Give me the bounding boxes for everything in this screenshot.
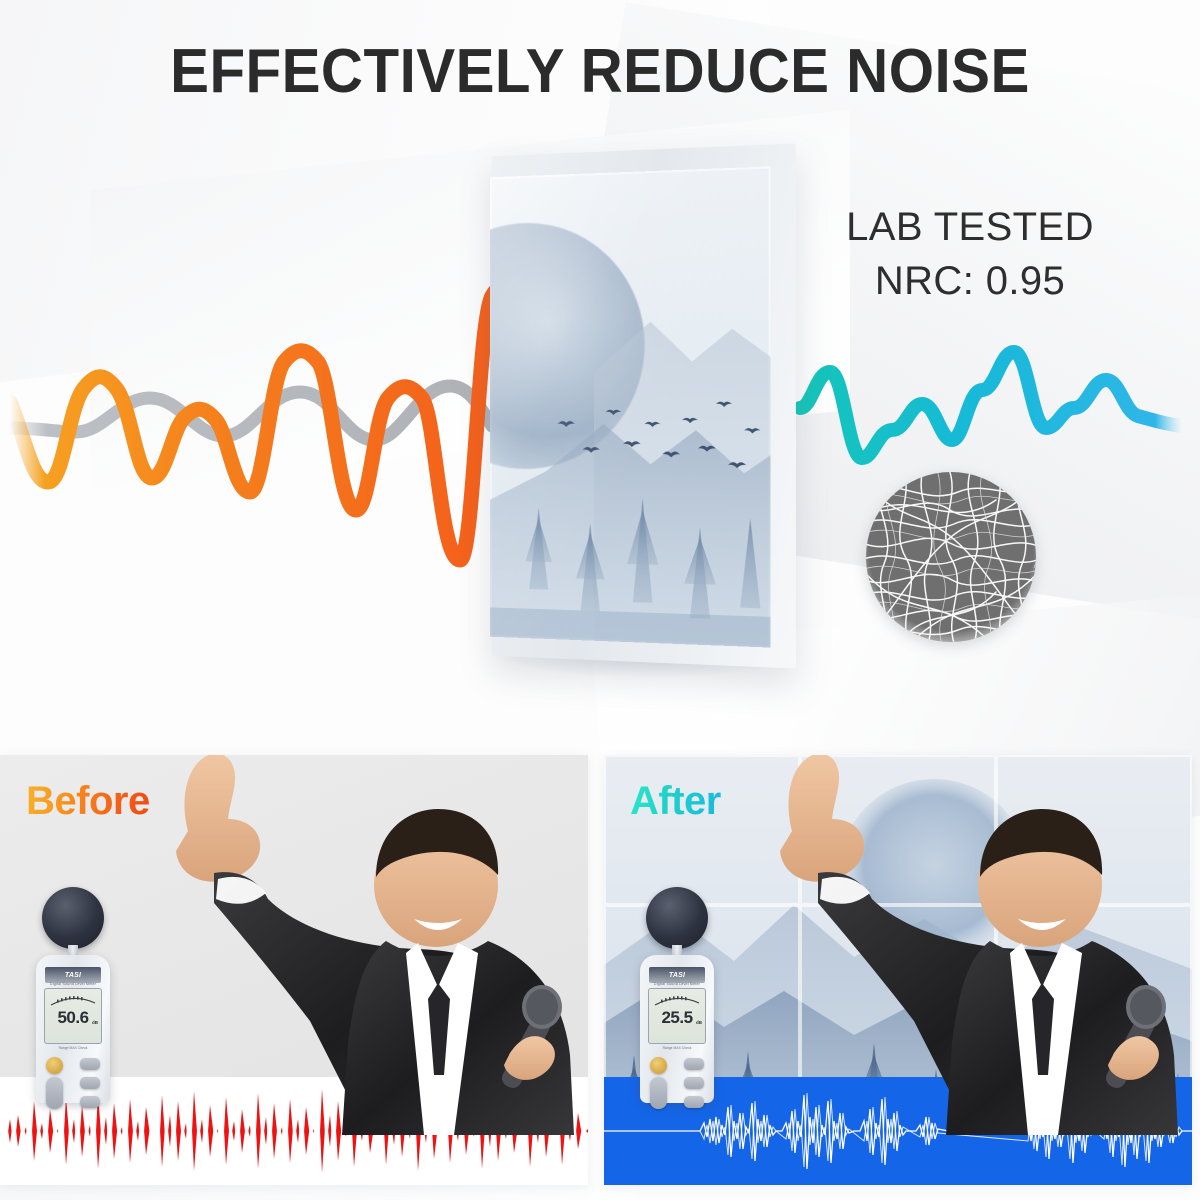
meter-footer-after: Range MAX Check (648, 1046, 706, 1050)
lcd-bargraph (48, 992, 98, 1008)
presenter-figure-after (722, 755, 1192, 1135)
meter-lcd-before: 50.6 dB (44, 988, 102, 1044)
before-card: Before (0, 755, 588, 1185)
reduced-noise-wave-path (800, 352, 1182, 458)
meter-windscreen (646, 887, 708, 949)
meter-brand-label: TASI (65, 972, 81, 979)
page-title: EFFECTIVELY REDUCE NOISE (36, 36, 1164, 107)
meter-reading-before: 50.6 (44, 1008, 102, 1028)
meter-footer-before: Range MAX Check (44, 1046, 102, 1050)
lcd-bargraph (652, 992, 702, 1008)
acoustic-art-panel (470, 140, 810, 680)
meter-power-button[interactable] (650, 1057, 667, 1074)
meter-subtitle: Digital Sound Level Meter (649, 982, 705, 986)
meter-windscreen (42, 887, 104, 949)
meter-brand-bar: TASI (649, 967, 705, 983)
sound-level-meter-after: TASI Digital Sound Level Meter (636, 887, 720, 1113)
meter-reading-after: 25.5 (648, 1008, 706, 1028)
after-label: After (630, 779, 721, 824)
meter-body: TASI Digital Sound Level Meter (36, 955, 110, 1103)
meter-unit-after: dB (696, 1020, 702, 1025)
meter-power-button[interactable] (46, 1057, 63, 1074)
meter-brand-label: TASI (669, 972, 685, 979)
presenter-figure-before (118, 755, 588, 1135)
meter-subtitle: Digital Sound Level Meter (45, 982, 101, 986)
meter-maxmin-button[interactable] (684, 1058, 704, 1070)
panel-artwork-face (490, 166, 771, 647)
fiber-texture (866, 472, 1036, 642)
sound-level-meter-before: TASI Digital Sound Level Meter (32, 887, 116, 1113)
after-card: After (604, 755, 1192, 1185)
artwork-landscape (490, 166, 771, 647)
meter-hold-button[interactable] (80, 1096, 100, 1108)
meter-updown-rocker[interactable] (650, 1077, 667, 1109)
meter-hold-button[interactable] (684, 1096, 704, 1108)
meter-unit-before: dB (92, 1020, 98, 1025)
meter-lcd-after: 25.5 dB (648, 988, 706, 1044)
infographic-canvas: EFFECTIVELY REDUCE NOISE LAB TESTED NRC:… (0, 0, 1200, 1200)
meter-body: TASI Digital Sound Level Meter (640, 955, 714, 1103)
meter-maxmin-button[interactable] (80, 1058, 100, 1070)
before-after-comparison: Before (0, 755, 1200, 1185)
polyester-fiber-closeup (866, 472, 1036, 642)
before-label: Before (26, 779, 150, 824)
meter-range-button[interactable] (80, 1077, 100, 1089)
meter-range-button[interactable] (684, 1077, 704, 1089)
meter-updown-rocker[interactable] (46, 1077, 63, 1109)
meter-brand-bar: TASI (45, 967, 101, 983)
